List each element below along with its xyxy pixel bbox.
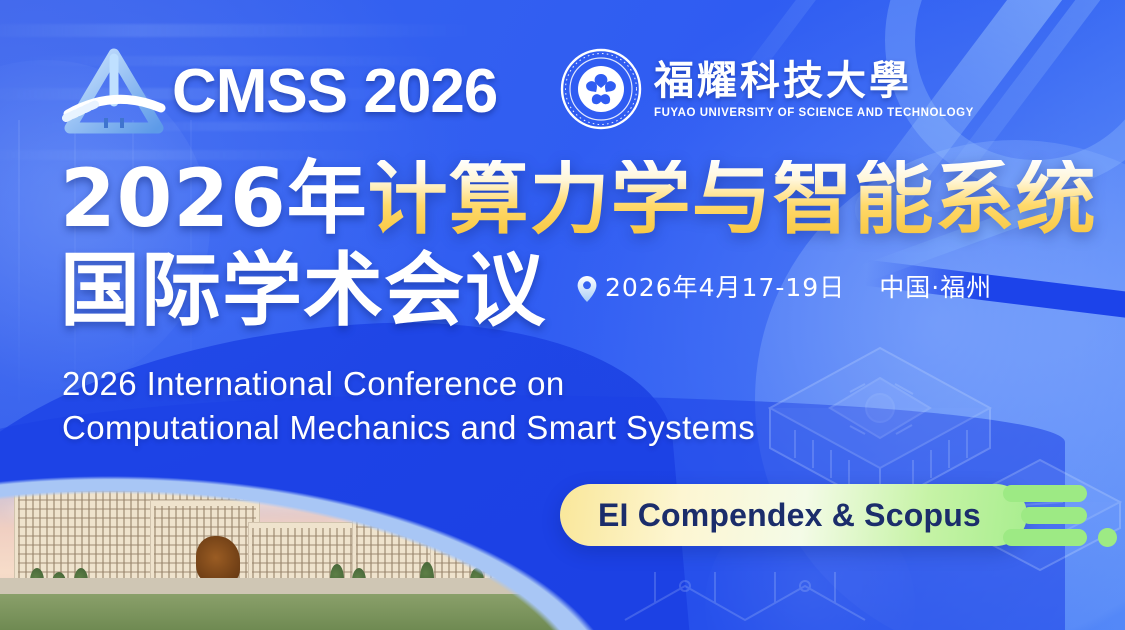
indexing-badge-label: EI Compendex & Scopus (598, 497, 981, 534)
photo-sculpture (196, 536, 240, 584)
fuyao-university-seal-icon (560, 48, 642, 130)
indexing-badge-pill: EI Compendex & Scopus (560, 484, 1027, 546)
green-bar (1021, 507, 1087, 524)
brand-header: CMSS 2026 (62, 48, 497, 136)
cmss-acronym: CMSS 2026 (172, 61, 497, 123)
title-cn-year: 2026年 (60, 160, 368, 238)
university-name-cn: 福耀科技大學 (654, 59, 974, 104)
green-bar (1003, 529, 1087, 546)
conference-date: 2026年4月17-19日 (605, 276, 845, 301)
photo-roof (7, 475, 253, 484)
conference-banner: CMSS 2026 福耀科技大學 FUYAO (0, 0, 1125, 630)
green-dot-icon (1098, 528, 1117, 547)
conference-meta: 2026年4月17-19日 中国·福州 (576, 275, 992, 309)
university-names: 福耀科技大學 FUYAO UNIVERSITY OF SCIENCE AND T… (654, 59, 974, 119)
title-cn-line-1: 2026年 计算力学与智能系统 (60, 160, 1097, 238)
photo-lawn (0, 594, 600, 630)
title-en-line-2: Computational Mechanics and Smart System… (62, 406, 755, 450)
green-bar (1003, 485, 1087, 502)
location-pin-icon (576, 275, 598, 303)
campus-photo (0, 435, 600, 630)
university-identity: 福耀科技大學 FUYAO UNIVERSITY OF SCIENCE AND T… (560, 48, 974, 130)
photo-building (248, 522, 368, 586)
green-bars-icon (1001, 482, 1087, 548)
conference-title-en: 2026 International Conference on Computa… (62, 362, 755, 450)
title-en-line-1: 2026 International Conference on (62, 362, 755, 406)
title-cn-event: 国际学术会议 (60, 252, 546, 330)
conference-city: 中国·福州 (879, 276, 992, 301)
title-cn-topic: 计算力学与智能系统 (368, 160, 1097, 238)
cmss-triangle-bridge-icon (62, 48, 166, 136)
conference-title-cn: 2026年 计算力学与智能系统 国际学术会议 2026年4月17-19日 中国·… (60, 160, 1097, 331)
indexing-badge: EI Compendex & Scopus (560, 482, 1087, 548)
university-name-en: FUYAO UNIVERSITY OF SCIENCE AND TECHNOLO… (654, 107, 974, 119)
title-cn-line-2: 国际学术会议 2026年4月17-19日 中国·福州 (60, 252, 1097, 330)
